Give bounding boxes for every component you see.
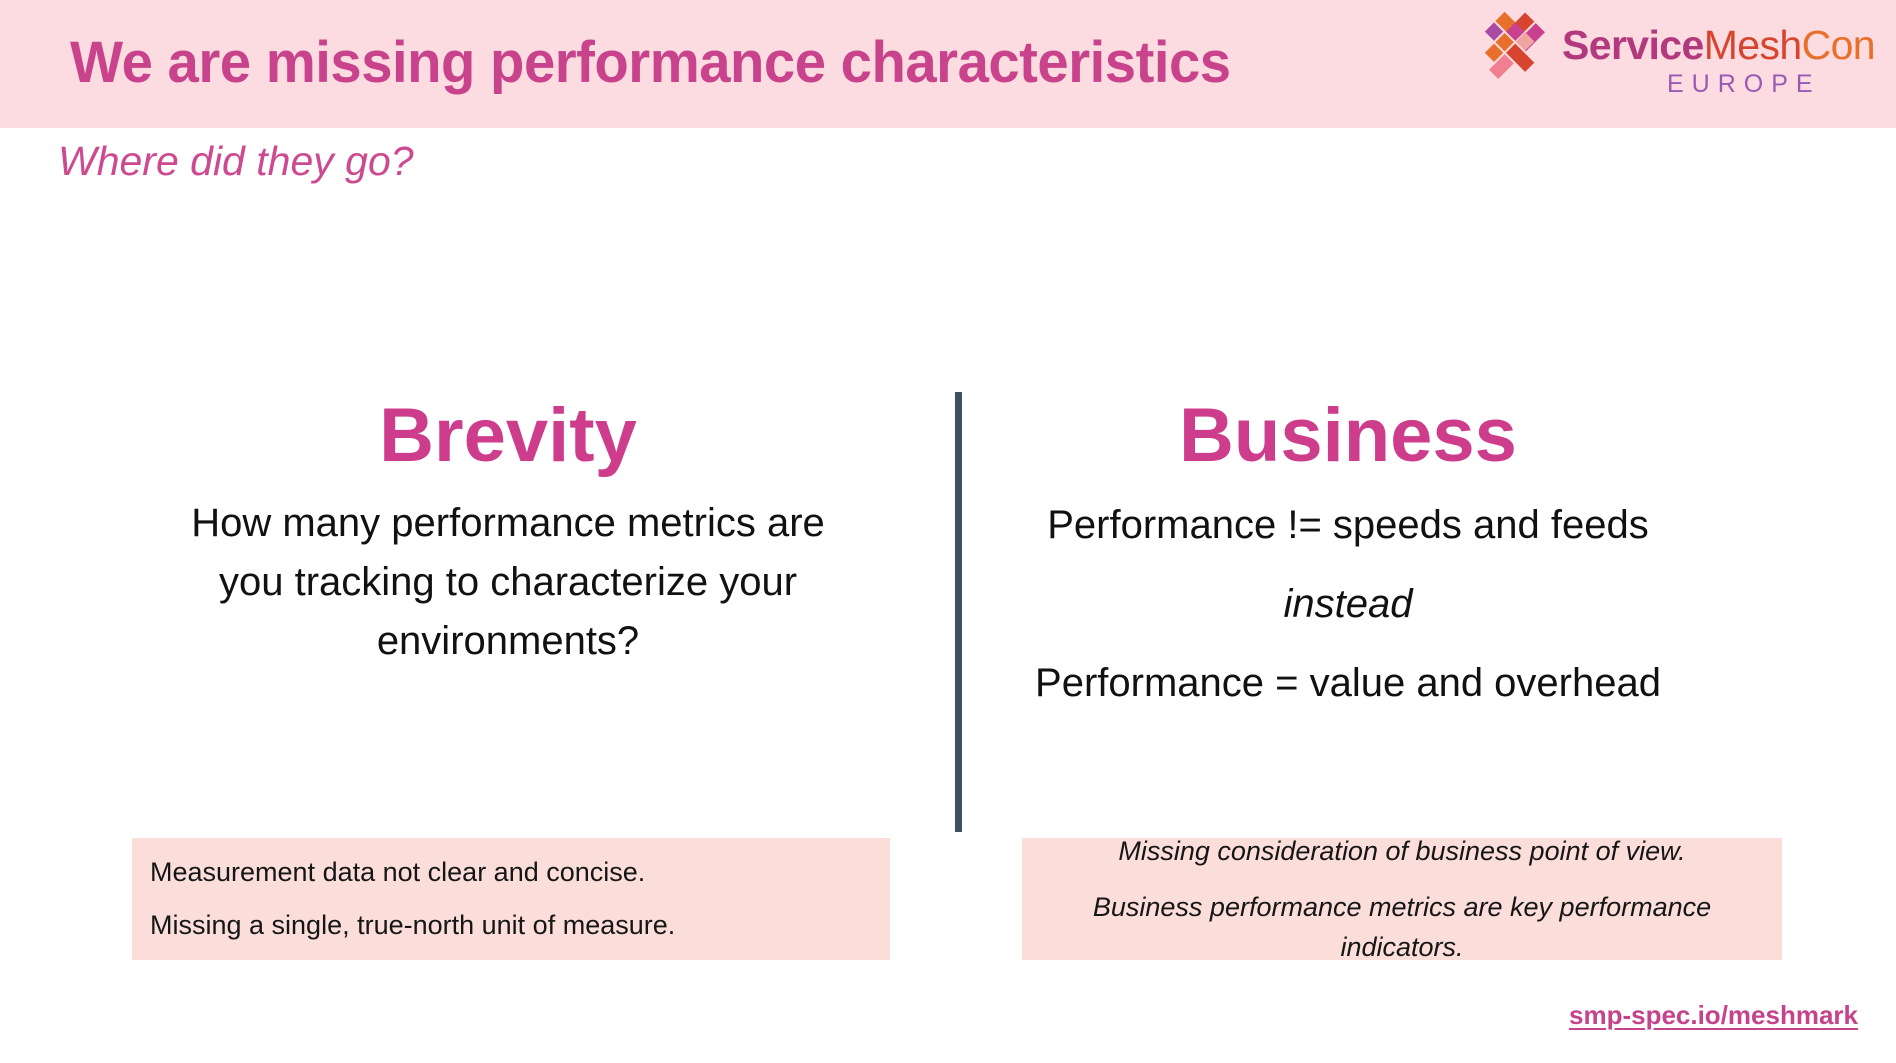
body-line: Performance = value and overhead <box>948 652 1748 715</box>
body-line: you tracking to characterize your <box>108 553 908 612</box>
body-line-emphasis: instead <box>948 573 1748 636</box>
callout-line: Measurement data not clear and concise. <box>150 846 645 899</box>
body-line: How many performance metrics are <box>108 494 908 553</box>
column-body-business: Performance != speeds and feeds instead … <box>948 494 1748 715</box>
column-heading-business: Business <box>948 388 1748 484</box>
callout-line: Missing consideration of business point … <box>1118 831 1685 871</box>
logo-wordmark: ServiceMeshCon <box>1562 19 1875 71</box>
body-line: Performance != speeds and feeds <box>948 494 1748 557</box>
body-line: environments? <box>108 612 908 671</box>
servicemeshcon-logo: ServiceMeshCon EUROPE <box>1472 6 1882 118</box>
page-title: We are missing performance characteristi… <box>70 22 1389 104</box>
slide-canvas: We are missing performance characteristi… <box>0 0 1896 1063</box>
column-business: Business Performance != speeds and feeds… <box>948 388 1748 715</box>
servicemeshcon-diamond-mesh-icon <box>1472 8 1550 82</box>
callout-box-business: Missing consideration of business point … <box>1022 838 1782 960</box>
logo-region-label: EUROPE <box>1667 70 1821 99</box>
column-brevity: Brevity How many performance metrics are… <box>108 388 908 671</box>
logo-word-con: Con <box>1802 22 1875 68</box>
column-heading-brevity: Brevity <box>108 388 908 484</box>
callout-box-brevity: Measurement data not clear and concise. … <box>132 838 890 960</box>
logo-word-mesh: Mesh <box>1704 22 1802 68</box>
slide-subtitle: Where did they go? <box>58 130 958 192</box>
column-body-brevity: How many performance metrics are you tra… <box>108 494 908 671</box>
footer-link-smp-spec[interactable]: smp-spec.io/meshmark <box>1569 1000 1858 1031</box>
callout-line: Missing a single, true-north unit of mea… <box>150 899 675 952</box>
callout-line: Business performance metrics are key per… <box>1044 887 1760 967</box>
logo-word-service: Service <box>1562 22 1704 68</box>
